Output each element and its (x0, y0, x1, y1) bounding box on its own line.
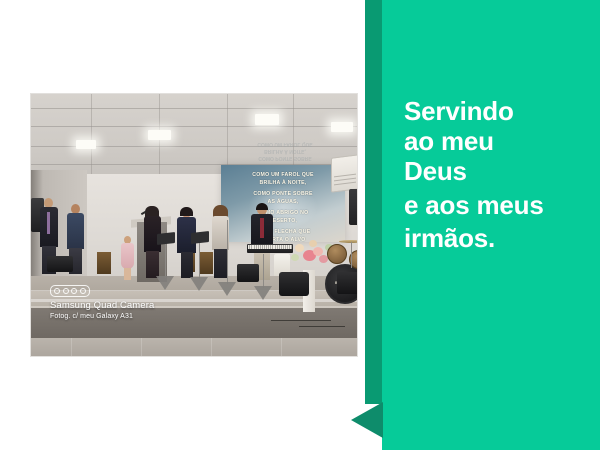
torso (67, 213, 84, 249)
music-stand-top (191, 231, 209, 244)
electronic-keyboard (247, 244, 293, 253)
camera-lens-dot (71, 288, 77, 294)
flower-leaf (291, 254, 299, 261)
lyric-line: DESERTO, (221, 217, 345, 225)
child-in-pink-dress (121, 236, 134, 280)
keyboard-keys (248, 245, 292, 249)
cymbal (339, 240, 357, 243)
headline-line: Deus (404, 156, 514, 186)
church-worship-photo[interactable]: COMO PONTE SOBRE BRILHA À NOITE, COMO UM… (30, 93, 358, 357)
reflect-line: COMO UM FAROL QUE (229, 140, 341, 147)
lyric-line: COMO PONTE SOBRE (221, 190, 345, 198)
dress (121, 243, 134, 269)
headline-line: Servindo (404, 96, 514, 126)
reflect-line: BRILHA À NOITE, (229, 147, 341, 154)
tie (47, 212, 50, 234)
floor-monitor-speaker (337, 272, 357, 294)
tie (260, 218, 264, 238)
lyric-line: AS ÁGUAS, (221, 198, 345, 206)
headline-line: e aos meus (404, 189, 544, 222)
mic-stand-legs (254, 286, 272, 300)
floor-tile-line (141, 338, 142, 356)
camera-lens-dot (80, 288, 86, 294)
ac-vent (334, 182, 356, 186)
music-stand-top (157, 232, 175, 245)
camera-lens-dot (54, 288, 60, 294)
cymbal-stand (351, 242, 352, 268)
mic-stand-pole (227, 220, 228, 284)
lyric-line: COMO FLECHA QUE (221, 228, 345, 236)
legs (124, 268, 131, 280)
headline-line: ao meu (404, 126, 514, 156)
headline-line: irmãos. (404, 222, 544, 255)
cable (271, 320, 331, 321)
music-stand-pole (165, 244, 166, 278)
watermark-title: Samsung Quad Camera (50, 300, 154, 312)
legs (181, 252, 193, 278)
photo-canvas: COMO PONTE SOBRE BRILHA À NOITE, COMO UM… (31, 94, 357, 356)
floor-tile-line (71, 338, 72, 356)
floor-monitor-speaker (279, 272, 309, 296)
wall-speaker-right (349, 189, 357, 225)
headline-secondary: e aos meus irmãos. (404, 189, 544, 255)
quad-camera-icon (50, 285, 90, 297)
mic-stand-pole (263, 254, 264, 288)
cable (299, 326, 345, 327)
reflect-line: COMO PONTE SOBRE (229, 154, 341, 161)
ac-vent (334, 174, 356, 178)
ceiling-seam (227, 94, 228, 176)
music-stand-legs (156, 276, 174, 290)
music-stand-pole (199, 243, 200, 279)
headline-primary: Servindo ao meu Deus (404, 96, 514, 186)
hair (256, 203, 268, 210)
flower-petal (295, 244, 304, 252)
legs (146, 251, 159, 278)
wooden-chair (97, 252, 111, 274)
lyric-line: COMO UM FAROL QUE (221, 171, 345, 179)
ac-vent (334, 178, 356, 182)
floor-tile-line (211, 338, 212, 356)
projected-lyrics: COMO UM FAROL QUE BRILHA À NOITE, COMO P… (221, 171, 345, 244)
ceiling-seam (91, 94, 92, 176)
floor-tile-line (281, 338, 282, 356)
ceiling-projection-reflection: COMO PONTE SOBRE BRILHA À NOITE, COMO UM… (229, 115, 341, 161)
legs (214, 249, 227, 278)
tom-drum (327, 244, 347, 264)
green-panel-edge (365, 0, 382, 404)
floor-monitor-speaker (237, 264, 259, 282)
lyric-line: BRILHA À NOITE, (221, 179, 345, 187)
camera-lens-dot (63, 288, 69, 294)
ceiling-light (76, 140, 96, 149)
photo-watermark: Samsung Quad Camera Fotog. c/ meu Galaxy… (50, 285, 154, 322)
music-stand-legs (190, 277, 208, 291)
mic-stand-legs (218, 282, 236, 296)
ceiling-seam (31, 108, 357, 109)
air-conditioner (331, 154, 357, 192)
hair (180, 207, 193, 216)
green-panel-fold-arrow (351, 402, 383, 438)
projection-screen: COMO UM FAROL QUE BRILHA À NOITE, COMO P… (221, 165, 345, 242)
floor-monitor-speaker (47, 256, 73, 272)
slide-canvas: COMO PONTE SOBRE BRILHA À NOITE, COMO UM… (0, 0, 600, 450)
lyric-line: COMO ABRIGO NO (221, 209, 345, 217)
ceiling-light (148, 130, 171, 140)
watermark-subtitle: Fotog. c/ meu Galaxy A31 (50, 312, 154, 322)
